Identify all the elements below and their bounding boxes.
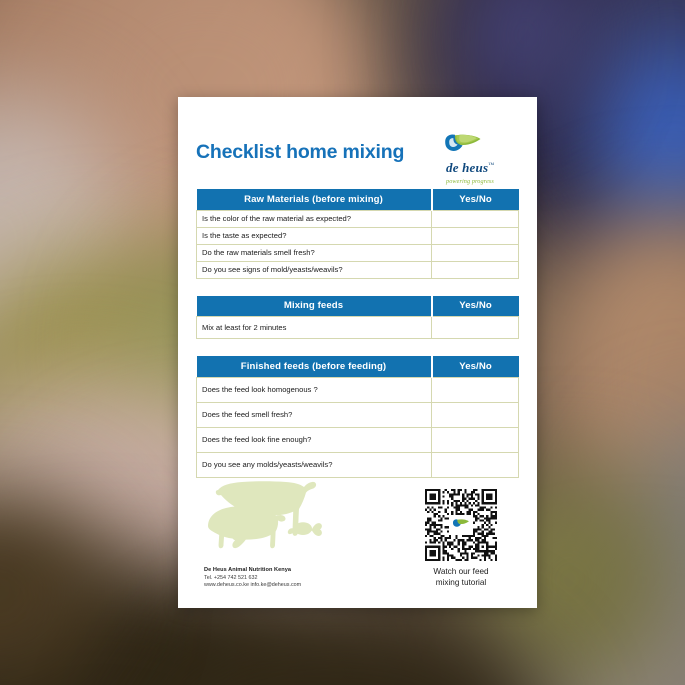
cow-pig-chicken-fish-silhouette-icon bbox=[200, 476, 326, 554]
checklist-table-mixing-feeds: Mixing feedsYes/NoMix at least for 2 min… bbox=[196, 296, 519, 340]
checklist-table-raw-materials: Raw Materials (before mixing)Yes/NoIs th… bbox=[196, 189, 519, 279]
checklist-answer-cell[interactable] bbox=[432, 227, 519, 244]
checklist-answer-cell[interactable] bbox=[432, 427, 519, 452]
table-row: Does the feed look homogenous ? bbox=[197, 377, 519, 402]
table-header-yesno: Yes/No bbox=[432, 356, 519, 377]
checklist-answer-cell[interactable] bbox=[432, 377, 519, 402]
contact-block: De Heus Animal Nutrition Kenya Tel. +254… bbox=[204, 567, 301, 590]
checklist-question: Mix at least for 2 minutes bbox=[197, 317, 432, 339]
checklist-question: Is the taste as expected? bbox=[197, 227, 432, 244]
checklist-answer-cell[interactable] bbox=[432, 210, 519, 227]
qr-tutorial-block[interactable]: Watch our feed mixing tutorial bbox=[413, 489, 509, 588]
company-phone: Tel. +254 742 521 632 bbox=[204, 575, 301, 583]
checklist-table-finished-feeds: Finished feeds (before feeding)Yes/NoDoe… bbox=[196, 356, 519, 478]
checklist-question: Does the feed look fine enough? bbox=[197, 427, 432, 452]
table-header-yesno: Yes/No bbox=[432, 296, 519, 317]
table-header-yesno: Yes/No bbox=[432, 189, 519, 210]
table-row: Is the color of the raw material as expe… bbox=[197, 210, 519, 227]
checklist-question: Does the feed smell fresh? bbox=[197, 402, 432, 427]
checklist-answer-cell[interactable] bbox=[432, 402, 519, 427]
table-row: Is the taste as expected? bbox=[197, 227, 519, 244]
checklist-answer-cell[interactable] bbox=[432, 317, 519, 339]
logo-trademark: ™ bbox=[488, 163, 494, 169]
qr-code-icon[interactable] bbox=[425, 489, 497, 561]
document-footer: De Heus Animal Nutrition Kenya Tel. +254… bbox=[196, 476, 519, 596]
table-row: Do the raw materials smell fresh? bbox=[197, 244, 519, 261]
checklist-question: Is the color of the raw material as expe… bbox=[197, 210, 432, 227]
logo-wordmark: de heus™ bbox=[443, 160, 519, 176]
checklist-question: Do you see signs of mold/yeasts/weavils? bbox=[197, 261, 432, 278]
checklist-document-card: Checklist home mixing de heus™ powering … bbox=[178, 97, 537, 608]
document-header: Checklist home mixing de heus™ powering … bbox=[196, 97, 519, 189]
table-row: Do you see any molds/yeasts/weavils? bbox=[197, 452, 519, 477]
logo-wordmark-text: de heus bbox=[446, 160, 488, 175]
logo-tagline: powering progress bbox=[443, 178, 519, 185]
company-name: De Heus Animal Nutrition Kenya bbox=[204, 567, 301, 575]
checklist-question: Do the raw materials smell fresh? bbox=[197, 244, 432, 261]
checklist-answer-cell[interactable] bbox=[432, 452, 519, 477]
checklist-answer-cell[interactable] bbox=[432, 261, 519, 278]
de-heus-swoosh-icon bbox=[452, 518, 470, 531]
table-header-title: Mixing feeds bbox=[197, 296, 432, 317]
qr-caption: Watch our feed mixing tutorial bbox=[413, 566, 509, 588]
table-row: Does the feed smell fresh? bbox=[197, 402, 519, 427]
company-web-email: www.deheus.co.ke info.ke@deheus.com bbox=[204, 582, 301, 590]
qr-center-logo bbox=[450, 517, 472, 533]
checklist-question: Do you see any molds/yeasts/weavils? bbox=[197, 452, 432, 477]
table-header-title: Raw Materials (before mixing) bbox=[197, 189, 432, 210]
checklist-tables: Raw Materials (before mixing)Yes/NoIs th… bbox=[196, 189, 519, 478]
de-heus-logo: de heus™ powering progress bbox=[443, 131, 519, 185]
checklist-question: Does the feed look homogenous ? bbox=[197, 377, 432, 402]
qr-caption-line-1: Watch our feed bbox=[413, 566, 509, 577]
checklist-answer-cell[interactable] bbox=[432, 244, 519, 261]
table-row: Do you see signs of mold/yeasts/weavils? bbox=[197, 261, 519, 278]
qr-caption-line-2: mixing tutorial bbox=[413, 577, 509, 588]
table-header-title: Finished feeds (before feeding) bbox=[197, 356, 432, 377]
de-heus-swoosh-icon bbox=[443, 133, 483, 159]
table-row: Does the feed look fine enough? bbox=[197, 427, 519, 452]
table-row: Mix at least for 2 minutes bbox=[197, 317, 519, 339]
page-title: Checklist home mixing bbox=[196, 131, 404, 163]
